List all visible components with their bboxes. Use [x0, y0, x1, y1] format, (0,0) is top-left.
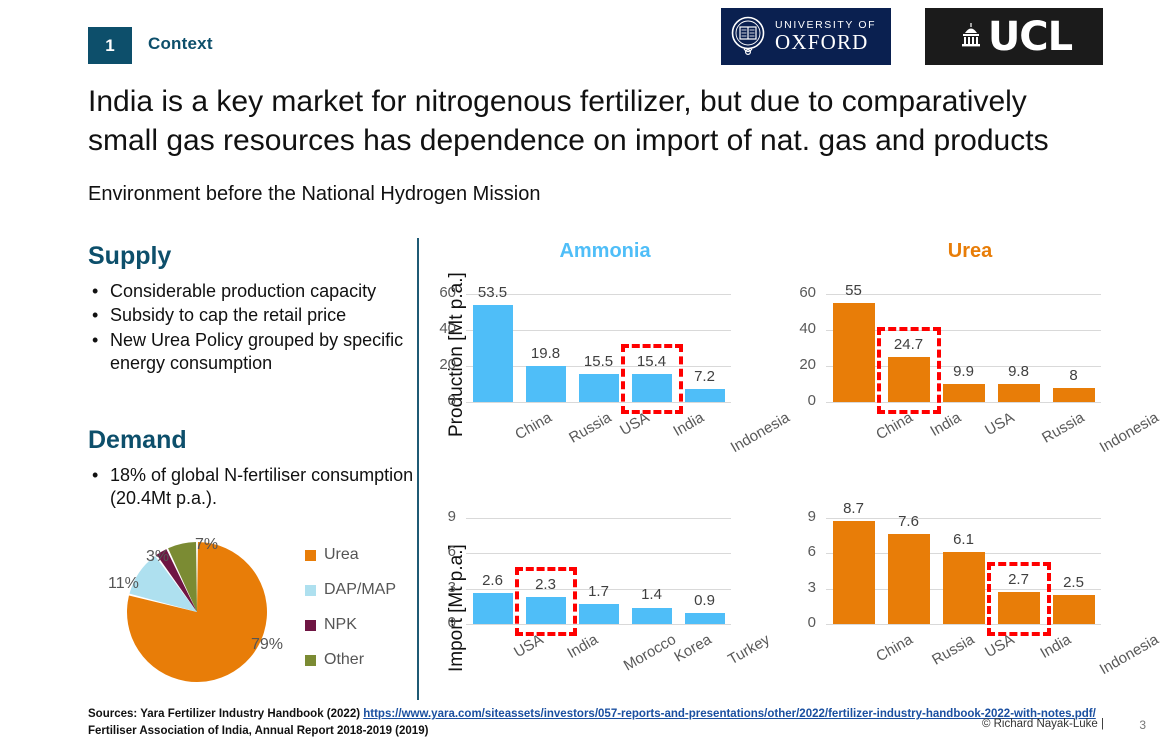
legend-label: DAP/MAP: [324, 581, 396, 599]
oxford-crest-icon: [727, 14, 769, 59]
x-axis-label: Indonesia: [1096, 409, 1161, 456]
plot-area: 03698.77.66.12.72.5: [826, 512, 1101, 624]
bar-value-label: 55: [828, 282, 880, 299]
y-axis-tick: 60: [426, 284, 456, 301]
bar-indonesia: [1053, 388, 1095, 402]
bar-usa: [943, 384, 985, 402]
ucl-logo-text: UCL: [988, 17, 1072, 57]
chart-urea-import: 03698.77.66.12.72.5ChinaRussiaUSAIndiaIn…: [826, 512, 1101, 684]
y-axis-tick: 6: [426, 543, 456, 560]
bar-china: [833, 521, 875, 624]
gridline: [826, 518, 1101, 519]
plot-area: 020406053.519.815.515.47.2: [466, 290, 731, 402]
oxford-line2: OXFORD: [775, 32, 876, 53]
legend-label: Urea: [324, 546, 359, 564]
page-title: India is a key market for nitrogenous fe…: [88, 82, 1088, 160]
gridline: [466, 402, 731, 403]
list-item-label: Considerable production capacity: [110, 280, 422, 303]
gridline: [826, 402, 1101, 403]
bar-value-label: 0.9: [679, 592, 731, 609]
x-axis-label: Korea: [671, 631, 714, 666]
y-axis-tick: 9: [426, 508, 456, 525]
y-axis-tick: 6: [786, 543, 816, 560]
y-axis-tick: 20: [426, 356, 456, 373]
pie-slice-label-urea: 79%: [251, 636, 283, 654]
bar-value-label: 1.7: [573, 583, 625, 600]
list-item-label: Subsidy to cap the retail price: [110, 304, 422, 327]
y-axis-tick: 3: [786, 579, 816, 596]
section-number: 1: [105, 36, 114, 56]
y-axis-tick: 40: [786, 320, 816, 337]
y-axis-title-import: Import [Mt p.a.]: [446, 544, 468, 672]
ucl-dome-icon: [956, 19, 986, 54]
bullet-dot-icon: •: [92, 304, 110, 327]
bar-value-label: 1.4: [626, 586, 678, 603]
bar-china: [833, 303, 875, 402]
highlight-box-india: [987, 562, 1051, 636]
legend-label: NPK: [324, 616, 357, 634]
bullet-dot-icon: •: [92, 464, 110, 511]
y-axis-tick: 40: [426, 320, 456, 337]
pie-slice-label-dapmap: 11%: [108, 575, 139, 593]
y-axis-tick: 0: [786, 392, 816, 409]
demand-heading: Demand: [88, 426, 187, 455]
bar-value-label: 7.2: [679, 368, 731, 385]
legend-item-npk: NPK: [305, 616, 396, 634]
page-subtitle: Environment before the National Hydrogen…: [88, 183, 540, 206]
highlight-box-india: [877, 327, 941, 414]
y-axis-tick: 0: [426, 392, 456, 409]
bar-usa: [579, 374, 619, 402]
pie-chart-n-fertiliser: 79% 11% 3% 7% Urea DAP/MAP NPK Other: [105, 528, 405, 693]
gridline: [466, 553, 731, 554]
chart-urea-production: 02040605524.79.99.88ChinaIndiaUSARussiaI…: [826, 290, 1101, 462]
bar-value-label: 9.9: [938, 363, 990, 380]
x-axis-label: Russia: [929, 631, 977, 669]
bar-value-label: 8: [1048, 367, 1100, 384]
list-item: •Subsidy to cap the retail price: [92, 304, 422, 327]
x-axis-label: China: [873, 631, 915, 665]
gridline: [466, 518, 731, 519]
bullet-dot-icon: •: [92, 329, 110, 376]
y-axis-tick: 0: [786, 614, 816, 631]
list-item: •Considerable production capacity: [92, 280, 422, 303]
oxford-logo-text: UNIVERSITY OF OXFORD: [775, 20, 876, 54]
supply-bullet-list: •Considerable production capacity •Subsi…: [92, 280, 422, 377]
copyright-text: © Richard Nayak-Luke |: [982, 718, 1104, 730]
list-item: •New Urea Policy grouped by specific ene…: [92, 329, 422, 376]
bar-value-label: 8.7: [828, 500, 880, 517]
supply-heading: Supply: [88, 242, 171, 271]
bar-china: [473, 305, 513, 402]
x-axis-label: USA: [982, 409, 1017, 439]
sources-prefix: Sources: Yara Fertilizer Industry Handbo…: [88, 708, 363, 720]
bar-russia: [888, 534, 930, 624]
chart-ammonia-production: 020406053.519.815.515.47.2ChinaRussiaUSA…: [466, 290, 731, 462]
bar-value-label: 9.8: [993, 363, 1045, 380]
x-axis-label: Morocco: [620, 631, 678, 674]
highlight-box-india: [621, 344, 683, 414]
urea-chart-title-wrap: Urea: [800, 240, 1140, 250]
plot-area: 03692.62.31.71.40.9: [466, 512, 731, 624]
bar-korea: [632, 608, 672, 625]
legend-swatch-icon: [305, 655, 316, 666]
list-item-label: New Urea Policy grouped by specific ener…: [110, 329, 422, 376]
bar-value-label: 19.8: [520, 345, 572, 362]
list-item-label: 18% of global N-fertiliser consumption (…: [110, 464, 422, 511]
gridline: [466, 624, 731, 625]
x-axis-label: Indonesia: [727, 409, 792, 456]
oxford-logo: UNIVERSITY OF OXFORD: [721, 8, 891, 65]
x-axis-label: Russia: [566, 409, 614, 447]
legend-item-other: Other: [305, 651, 396, 669]
y-axis-tick: 0: [426, 614, 456, 631]
bar-value-label: 2.6: [467, 572, 519, 589]
ammonia-chart-title-wrap: Ammonia: [440, 240, 770, 250]
bullet-dot-icon: •: [92, 280, 110, 303]
bar-turkey: [685, 613, 725, 624]
legend-label: Other: [324, 651, 364, 669]
chart-ammonia-import: 03692.62.31.71.40.9USAIndiaMoroccoKoreaT…: [466, 512, 731, 684]
x-axis-label: Indonesia: [1096, 631, 1161, 678]
legend-swatch-icon: [305, 585, 316, 596]
x-axis-label: China: [873, 409, 915, 443]
list-item: •18% of global N-fertiliser consumption …: [92, 464, 422, 511]
bar-morocco: [579, 604, 619, 624]
section-number-badge: 1: [88, 27, 132, 64]
x-axis-label: Russia: [1039, 409, 1087, 447]
y-axis-tick: 9: [786, 508, 816, 525]
sources-line-1: Sources: Yara Fertilizer Industry Handbo…: [88, 706, 1096, 723]
ucl-logo: UCL: [925, 8, 1103, 65]
bar-value-label: 6.1: [938, 531, 990, 548]
bar-value-label: 53.5: [467, 284, 519, 301]
y-axis-tick: 3: [426, 579, 456, 596]
pie-legend: Urea DAP/MAP NPK Other: [305, 546, 396, 686]
chart-title-urea: Urea: [800, 240, 1140, 263]
bar-value-label: 2.5: [1048, 574, 1100, 591]
pie-slice-label-npk: 3%: [146, 548, 169, 566]
gridline: [826, 624, 1101, 625]
legend-item-dapmap: DAP/MAP: [305, 581, 396, 599]
oxford-line1: UNIVERSITY OF: [775, 20, 876, 31]
bar-indonesia: [685, 389, 725, 402]
bar-value-label: 15.5: [573, 353, 625, 370]
bar-russia: [998, 384, 1040, 402]
chart-title-ammonia: Ammonia: [440, 240, 770, 263]
legend-item-urea: Urea: [305, 546, 396, 564]
demand-bullet-list: •18% of global N-fertiliser consumption …: [92, 464, 422, 512]
legend-swatch-icon: [305, 550, 316, 561]
bar-value-label: 7.6: [883, 513, 935, 530]
section-label: Context: [148, 34, 213, 54]
legend-swatch-icon: [305, 620, 316, 631]
page-number: 3: [1139, 718, 1146, 732]
slide: 1 Context UNIVERSITY OF OXFORD: [0, 0, 1176, 735]
sources-line-2: Fertiliser Association of India, Annual …: [88, 723, 1096, 739]
bar-usa: [473, 593, 513, 624]
y-axis-tick: 60: [786, 284, 816, 301]
bar-usa: [943, 552, 985, 624]
x-axis-label: Turkey: [725, 631, 773, 668]
pie-slice-label-other: 7%: [195, 536, 218, 554]
bar-indonesia: [1053, 595, 1095, 624]
plot-area: 02040605524.79.99.88: [826, 290, 1101, 402]
sources-text: Sources: Yara Fertilizer Industry Handbo…: [88, 706, 1096, 739]
x-axis-label: China: [512, 409, 554, 443]
bar-russia: [526, 366, 566, 402]
highlight-box-india: [515, 567, 577, 636]
y-axis-tick: 20: [786, 356, 816, 373]
